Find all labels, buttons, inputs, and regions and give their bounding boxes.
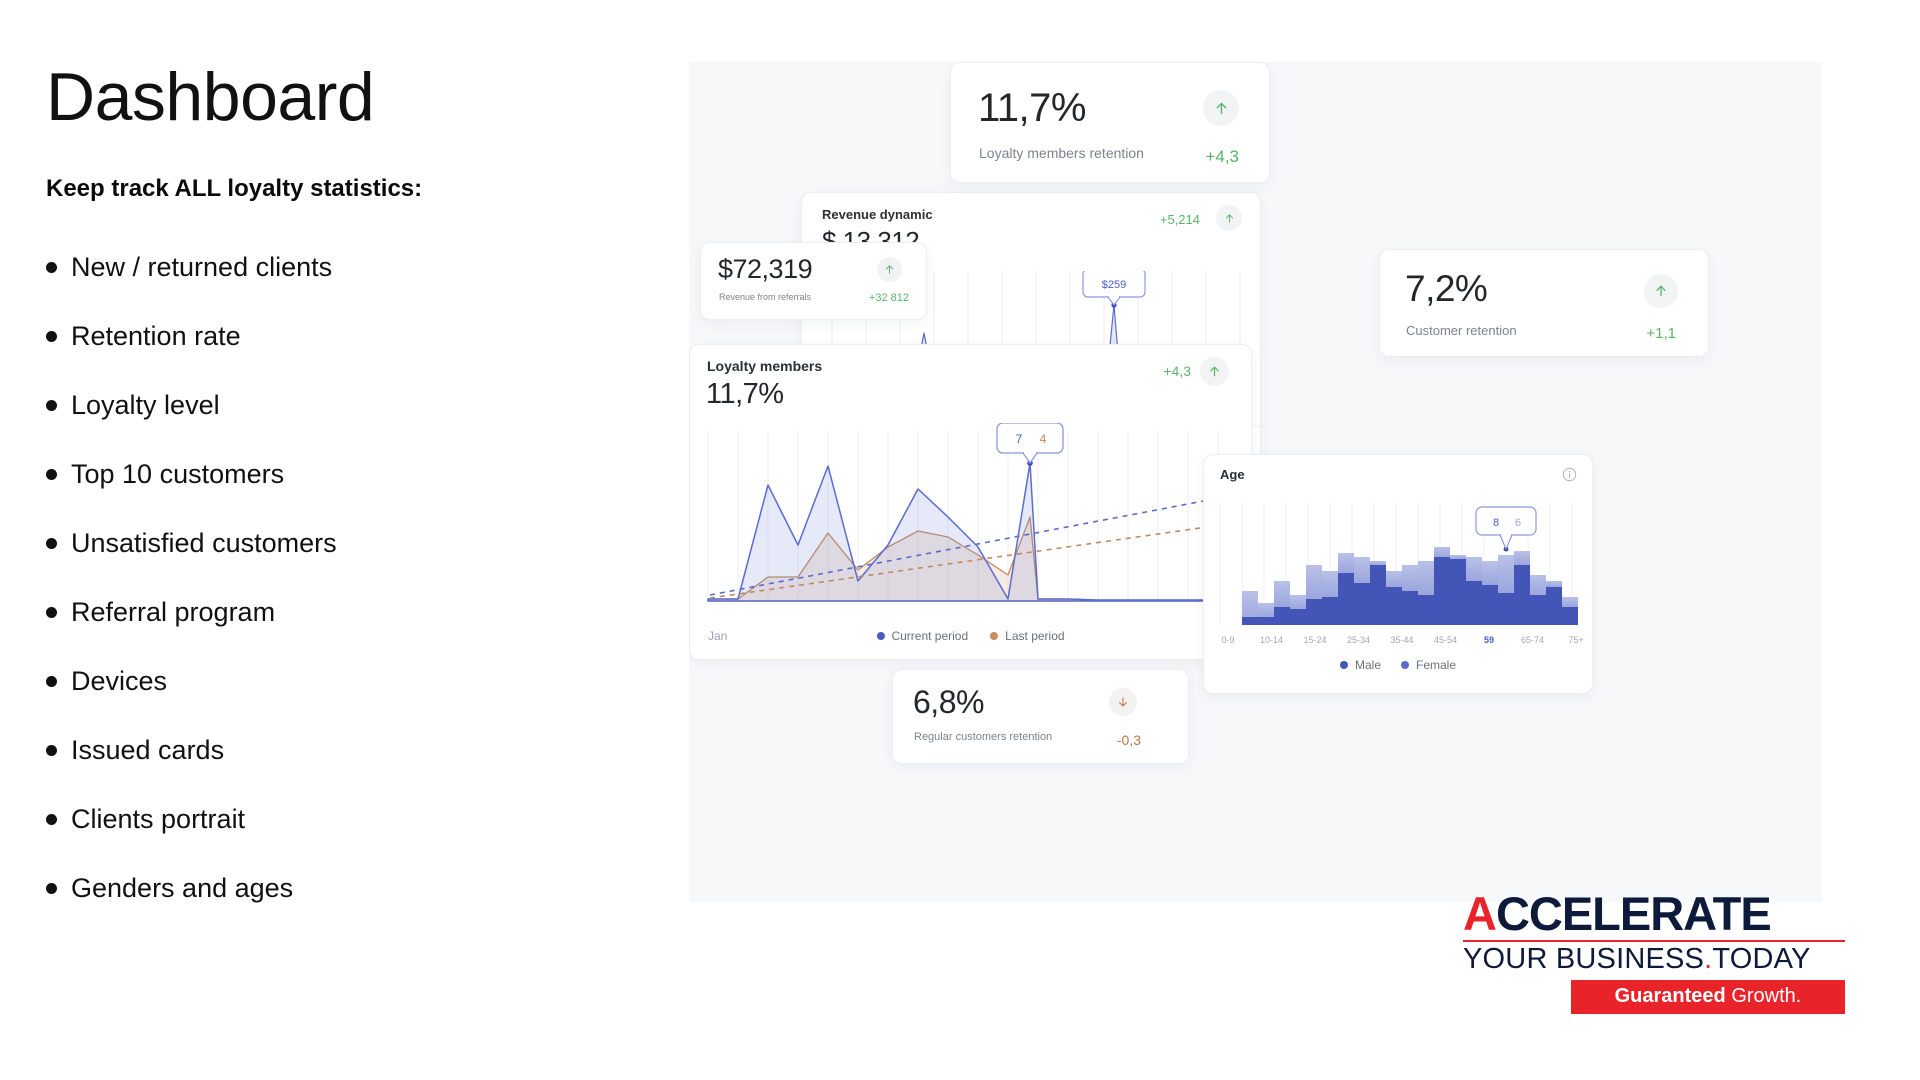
age-axis-tick: 0-9 (1221, 635, 1234, 645)
arrow-up-icon (1200, 357, 1229, 386)
bullet-dot-icon (46, 262, 57, 273)
logo-letter-a: A (1463, 890, 1496, 937)
feature-bullet: Devices (46, 647, 646, 716)
age-axis-ticks: 0-910-1415-2425-3435-4445-545965-7475+ (1204, 635, 1592, 649)
legend-item-current-period[interactable]: Current period (876, 629, 968, 643)
info-icon[interactable] (1562, 467, 1577, 482)
feature-bullet-label: Unsatisfied customers (71, 530, 337, 557)
feature-bullet-label: New / returned clients (71, 254, 332, 281)
arrow-up-icon (1216, 205, 1242, 231)
age-axis-tick: 45-54 (1434, 635, 1457, 645)
logo-wordmark: ACCELERATE (1463, 890, 1845, 937)
tooltip-last-value: 4 (1040, 432, 1047, 446)
arrow-up-icon (877, 257, 902, 282)
legend-item-male[interactable]: Male (1340, 658, 1381, 672)
feature-bullet-label: Genders and ages (71, 875, 293, 902)
bullet-dot-icon (46, 676, 57, 687)
feature-bullet: Loyalty level (46, 371, 646, 440)
feature-bullet: Referral program (46, 578, 646, 647)
feature-bullet: Issued cards (46, 716, 646, 785)
arrow-up-icon (1644, 274, 1678, 308)
feature-bullet: Clients portrait (46, 785, 646, 854)
bullet-dot-icon (46, 400, 57, 411)
kpi-label: Revenue from referrals (719, 292, 811, 302)
legend-swatch-icon (1340, 661, 1348, 669)
age-axis-tick: 35-44 (1390, 635, 1413, 645)
age-histogram-chart: 8 6 (1204, 499, 1594, 631)
kpi-value: 11,7% (706, 378, 784, 411)
card-revenue-from-referrals[interactable]: $72,319 Revenue from referrals +32 812 (700, 242, 927, 320)
subheading: Keep track ALL loyalty statistics: (46, 175, 646, 203)
kpi-delta: +4,3 (1205, 147, 1239, 167)
bullet-dot-icon (46, 814, 57, 825)
chart-legend: Current period Last period (876, 629, 1064, 643)
logo-band-light: Growth. (1731, 985, 1801, 1007)
card-loyalty-members-chart[interactable]: Loyalty members 11,7% +4,3 (689, 344, 1252, 660)
card-loyalty-members-retention[interactable]: 11,7% Loyalty members retention +4,3 (950, 62, 1270, 183)
accelerate-logo: ACCELERATE YOUR BUSINESS.TODAY Guarantee… (1463, 890, 1845, 1014)
arrow-down-icon (1109, 688, 1137, 716)
card-title: Loyalty members (707, 358, 822, 374)
card-title: Age (1220, 467, 1245, 482)
bullet-dot-icon (46, 538, 57, 549)
age-axis-tick: 75+ (1568, 635, 1583, 645)
kpi-label: Customer retention (1406, 323, 1517, 338)
kpi-label: Regular customers retention (914, 731, 1052, 743)
legend-item-female[interactable]: Female (1401, 658, 1456, 672)
left-content-column: Dashboard Keep track ALL loyalty statist… (46, 62, 646, 923)
legend-label: Male (1355, 658, 1381, 672)
feature-bullet: Retention rate (46, 302, 646, 371)
revenue-tooltip-label: $259 (1102, 279, 1126, 291)
feature-bullet-label: Devices (71, 668, 167, 695)
legend-swatch-icon (990, 632, 998, 640)
legend-label: Female (1416, 658, 1456, 672)
feature-bullet-label: Retention rate (71, 323, 241, 350)
kpi-delta: +4,3 (1163, 363, 1191, 379)
tooltip-male-value: 8 (1493, 517, 1499, 529)
feature-bullet-label: Top 10 customers (71, 461, 284, 488)
legend-label: Last period (1005, 629, 1064, 643)
feature-bullet-list: New / returned clientsRetention rateLoya… (46, 233, 646, 923)
age-axis-tick: 25-34 (1347, 635, 1370, 645)
logo-guarantee-band: Guaranteed Growth. (1571, 980, 1845, 1014)
age-axis-tick: 15-24 (1303, 635, 1326, 645)
kpi-delta: +32 812 (869, 292, 909, 304)
age-tooltip: 8 6 (1476, 507, 1536, 549)
logo-divider (1463, 940, 1845, 942)
logo-tagline-post: TODAY (1712, 943, 1810, 975)
feature-bullet-label: Loyalty level (71, 392, 220, 419)
feature-bullet: Genders and ages (46, 854, 646, 923)
slide-root: Dashboard Keep track ALL loyalty statist… (0, 0, 1920, 1080)
bullet-dot-icon (46, 607, 57, 618)
card-title: Revenue dynamic (822, 207, 933, 222)
card-age-distribution[interactable]: Age (1203, 454, 1593, 694)
kpi-delta: +5,214 (1160, 212, 1200, 227)
kpi-value: 7,2% (1405, 268, 1487, 310)
logo-band-bold: Guaranteed (1615, 985, 1732, 1007)
kpi-value: 6,8% (913, 684, 984, 721)
current-period-series (708, 463, 1218, 601)
loyalty-members-chart: 7 4 (690, 423, 1253, 613)
tooltip-female-value: 6 (1515, 517, 1521, 529)
age-chart-legend: Male Female (1340, 658, 1456, 672)
feature-bullet: New / returned clients (46, 233, 646, 302)
chart-footer: Jan Mar Current period Last period (690, 629, 1251, 645)
loyalty-tooltip: 7 4 (997, 423, 1063, 463)
bullet-dot-icon (46, 883, 57, 894)
age-axis-tick: 59 (1484, 635, 1494, 645)
card-customer-retention[interactable]: 7,2% Customer retention +1,1 (1379, 249, 1709, 357)
feature-bullet-label: Clients portrait (71, 806, 245, 833)
bullet-dot-icon (46, 745, 57, 756)
axis-label-left: Jan (708, 629, 727, 643)
feature-bullet-label: Issued cards (71, 737, 224, 764)
feature-bullet-label: Referral program (71, 599, 275, 626)
feature-bullet: Top 10 customers (46, 440, 646, 509)
kpi-value: $72,319 (718, 254, 812, 285)
page-title: Dashboard (46, 62, 646, 133)
kpi-delta: +1,1 (1646, 325, 1676, 342)
kpi-label: Loyalty members retention (979, 145, 1144, 161)
kpi-value: 11,7% (978, 86, 1086, 131)
legend-swatch-icon (876, 632, 884, 640)
bullet-dot-icon (46, 469, 57, 480)
logo-tagline-pre: YOUR BUSINESS (1463, 943, 1704, 975)
tooltip-current-value: 7 (1016, 432, 1023, 446)
kpi-delta: -0,3 (1117, 732, 1141, 748)
legend-label: Current period (891, 629, 968, 643)
card-regular-customers-retention[interactable]: 6,8% Regular customers retention -0,3 (892, 669, 1189, 764)
dashboard-preview-panel: Revenue dynamic $ 13,312 +5,214 (689, 62, 1822, 902)
legend-item-last-period[interactable]: Last period (990, 629, 1064, 643)
logo-tagline: YOUR BUSINESS.TODAY (1463, 944, 1845, 976)
arrow-up-icon (1203, 90, 1239, 126)
age-axis-tick: 65-74 (1521, 635, 1544, 645)
feature-bullet: Unsatisfied customers (46, 509, 646, 578)
bullet-dot-icon (46, 331, 57, 342)
logo-wordmark-rest: CCELERATE (1496, 890, 1771, 937)
revenue-tooltip: $259 (1083, 271, 1145, 305)
legend-swatch-icon (1401, 661, 1409, 669)
age-axis-tick: 10-14 (1260, 635, 1283, 645)
